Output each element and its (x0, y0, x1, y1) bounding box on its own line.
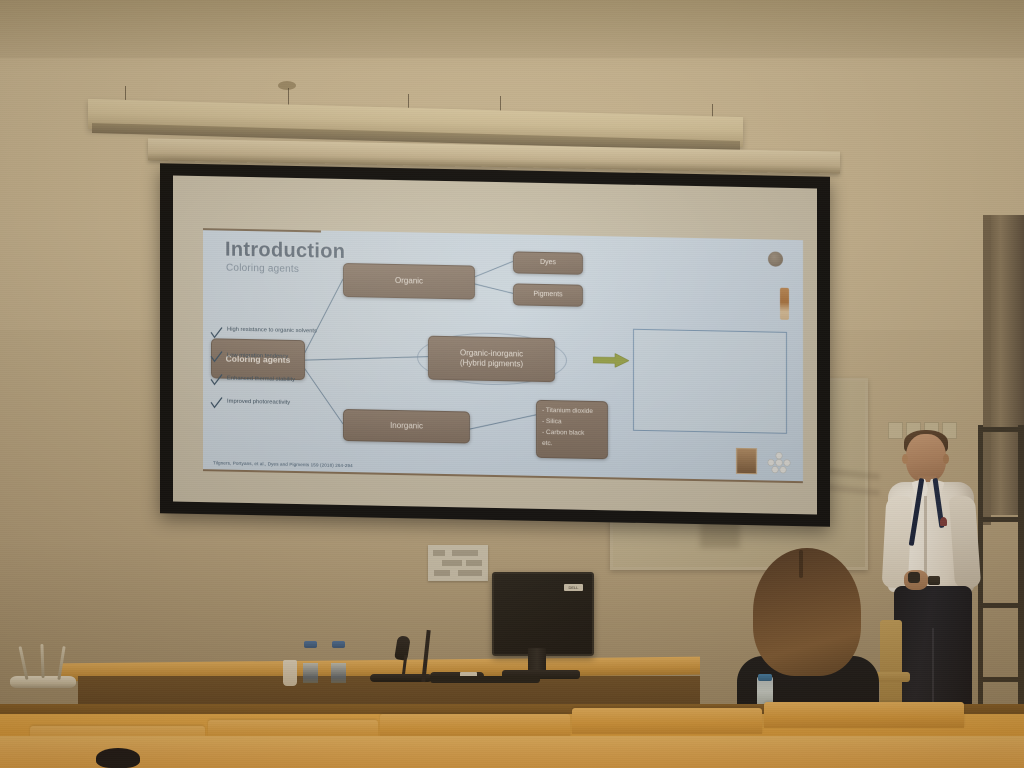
green-arrow-icon (593, 353, 629, 368)
flow-node-dyes: Dyes (513, 251, 583, 274)
bottle-cap (758, 674, 772, 681)
flow-node-pigments: Pigments (513, 283, 583, 306)
flow-node-inorganic-list: - Titanium dioxide - Silica - Carbon bla… (536, 400, 608, 459)
seated-audience-member (733, 548, 883, 728)
chair (880, 620, 902, 706)
bottle-label (303, 663, 318, 683)
monitor-brand-label: DELL (564, 584, 583, 591)
inorganic-list-item: - Carbon black (542, 429, 602, 438)
presenter-arm (949, 495, 981, 589)
benefit-text: Enhanced thermal stability (227, 376, 351, 386)
molecule-cluster-icon (767, 451, 791, 473)
audience-hair-part (799, 550, 803, 578)
inorganic-list-item: - Silica (542, 418, 602, 427)
presenter-head (906, 434, 946, 482)
projection-screen-frame: Introduction Coloring agents Coloring (160, 163, 830, 526)
shirt-logo-icon (940, 517, 947, 526)
benefits-panel (633, 329, 787, 434)
institution-crest-icon (736, 448, 757, 474)
benefit-text: High resistance to organic solvents (227, 327, 351, 337)
lecture-hall-photo: Introduction Coloring agents Coloring (0, 0, 1024, 768)
inorganic-list-item: etc. (542, 440, 602, 449)
ceiling-mount (278, 81, 296, 90)
ceiling (0, 0, 1024, 58)
checkmark-icon (210, 326, 223, 339)
presentation-clicker (908, 572, 920, 583)
monitor-cable (430, 676, 540, 683)
circular-emblem-icon (768, 251, 783, 266)
audience-hair (753, 548, 861, 676)
bottle-cap (304, 641, 317, 648)
bottle-label (331, 663, 346, 683)
checkmark-icon (210, 350, 223, 363)
benefit-text: Improved photoreactivity (227, 399, 351, 409)
vial-graphic-icon (780, 288, 789, 320)
presenter-ear (902, 454, 908, 464)
flow-node-hybrid: Organic-inorganic (Hybrid pigments) (428, 336, 555, 383)
bottle-cap (332, 641, 345, 648)
bag-on-bench (96, 748, 140, 768)
checkmark-icon (210, 373, 223, 386)
inorganic-list-item: - Titanium dioxide (542, 407, 602, 416)
slide-bottom-accent (203, 469, 803, 483)
slide-citation: Tilgners, Portyans, et al., Dyes and Pig… (213, 460, 353, 468)
flow-node-organic: Organic (343, 263, 475, 300)
checkmark-icon (210, 396, 223, 409)
flow-node-hybrid-line2: (Hybrid pigments) (460, 358, 523, 369)
paper-cup (283, 660, 297, 686)
bench-backrest (764, 702, 964, 728)
bench-backrest (572, 708, 762, 734)
presentation-slide: Introduction Coloring agents Coloring (203, 228, 803, 483)
flow-node-inorganic: Inorganic (343, 409, 470, 444)
slide-top-accent (203, 228, 321, 232)
slide-title: Introduction (225, 239, 345, 264)
desktop-monitor-rear: DELL (492, 572, 594, 656)
projection-screen-surface: Introduction Coloring agents Coloring (173, 176, 817, 515)
wristwatch (928, 576, 940, 585)
presenter-ear (943, 454, 949, 464)
bench-desk-surface (0, 736, 1024, 768)
wall-poster (428, 545, 488, 581)
slide-subtitle: Coloring agents (226, 263, 299, 275)
